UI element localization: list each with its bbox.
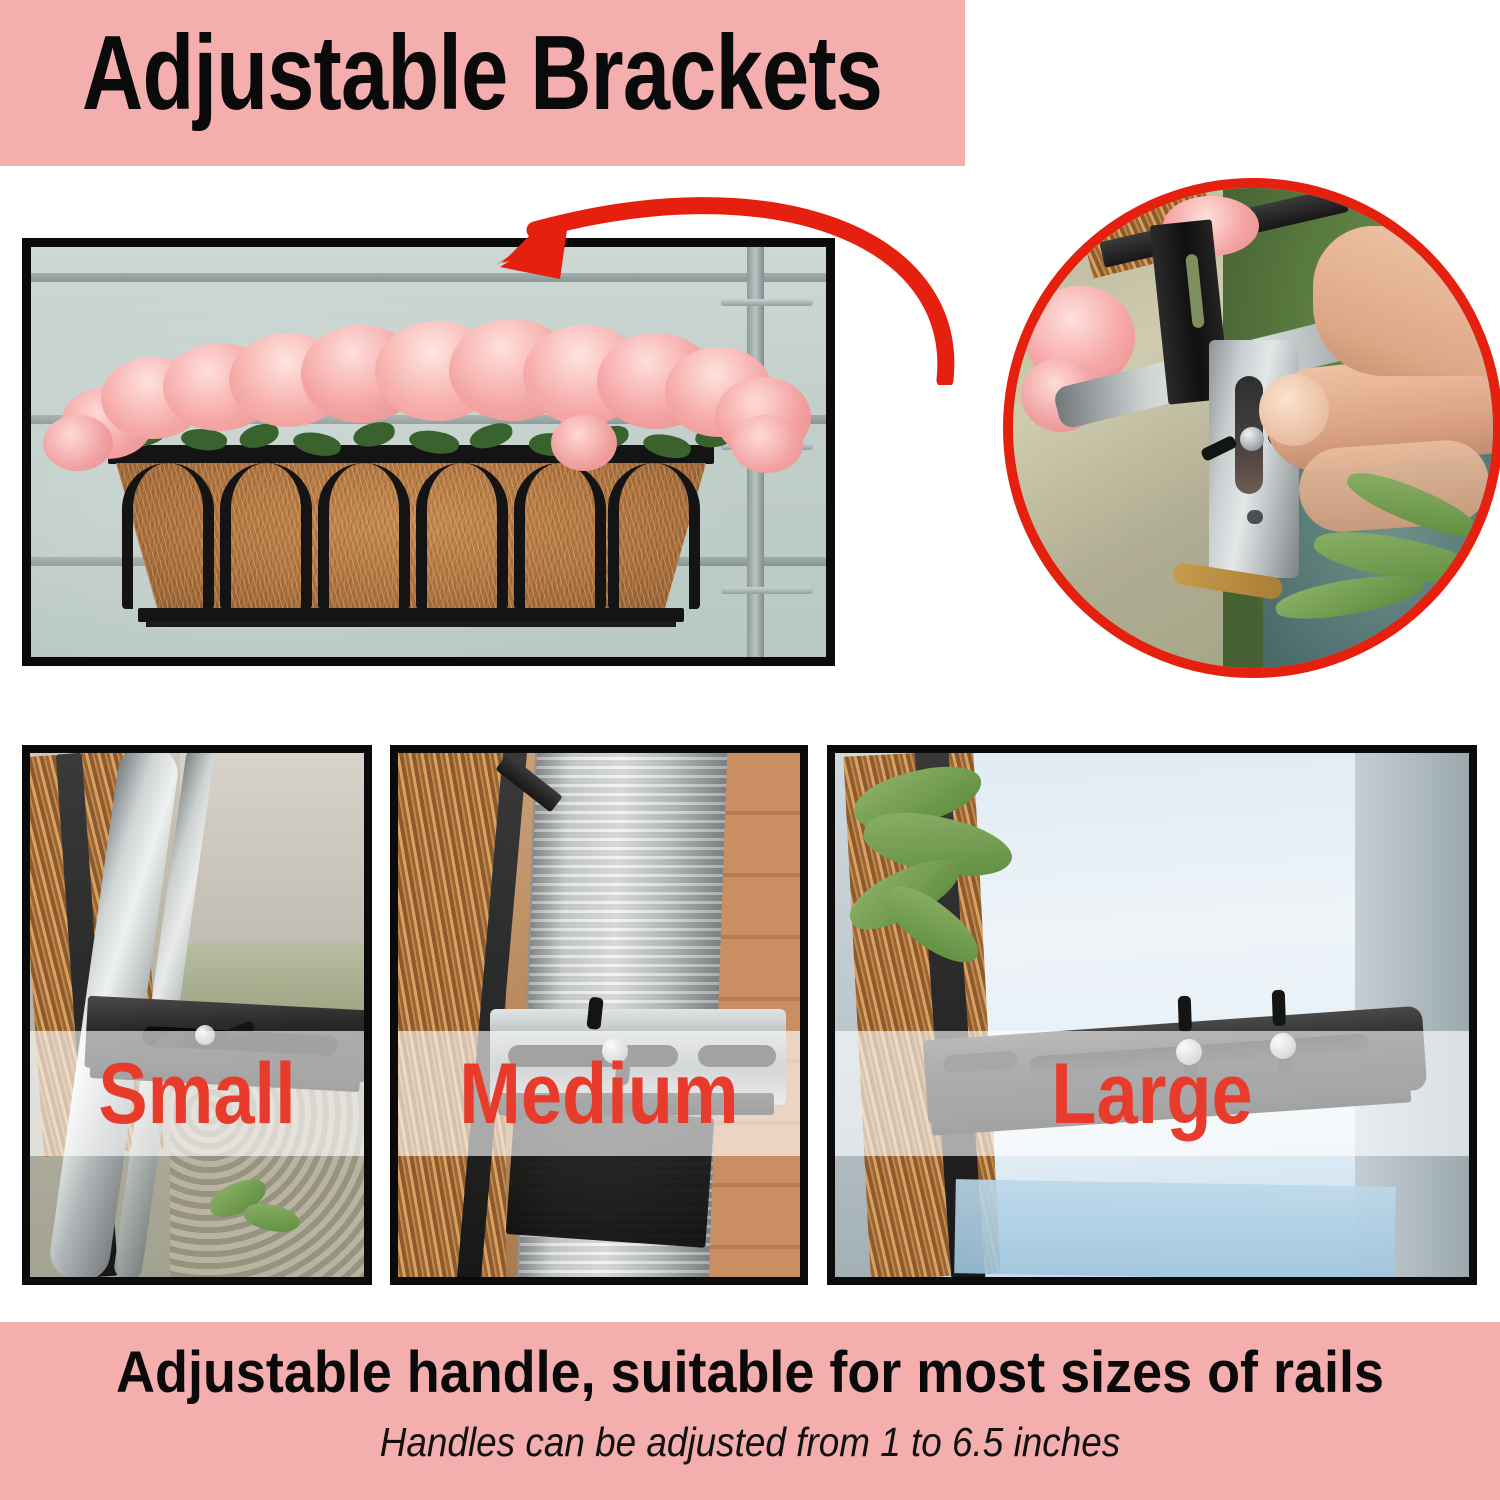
size-label-large: Large: [879, 1039, 1424, 1149]
infographic-page: Adjustable Brackets: [0, 0, 1500, 1500]
page-title: Adjustable Brackets: [82, 13, 770, 133]
size-panel-medium: Medium: [390, 745, 808, 1285]
size-label-medium: Medium: [426, 1039, 772, 1149]
size-panel-medium-image: Medium: [398, 753, 800, 1277]
footer-headline: Adjustable handle, suitable for most siz…: [53, 1336, 1448, 1410]
size-panel-small: Small: [22, 745, 372, 1285]
footer-subline: Handles can be adjusted from 1 to 6.5 in…: [75, 1414, 1425, 1470]
size-label-small: Small: [53, 1039, 340, 1149]
planter-box: [116, 445, 706, 627]
detail-circle-image: [1013, 188, 1493, 668]
hero-photo: [22, 238, 835, 666]
size-panel-large: Large: [827, 745, 1477, 1285]
detail-circle-photo: [1003, 178, 1500, 678]
hero-photo-image: [31, 247, 826, 657]
size-panel-large-image: Large: [835, 753, 1469, 1277]
title-banner: Adjustable Brackets: [0, 0, 965, 166]
size-panel-small-image: Small: [30, 753, 364, 1277]
footer-banner: Adjustable handle, suitable for most siz…: [0, 1322, 1500, 1500]
